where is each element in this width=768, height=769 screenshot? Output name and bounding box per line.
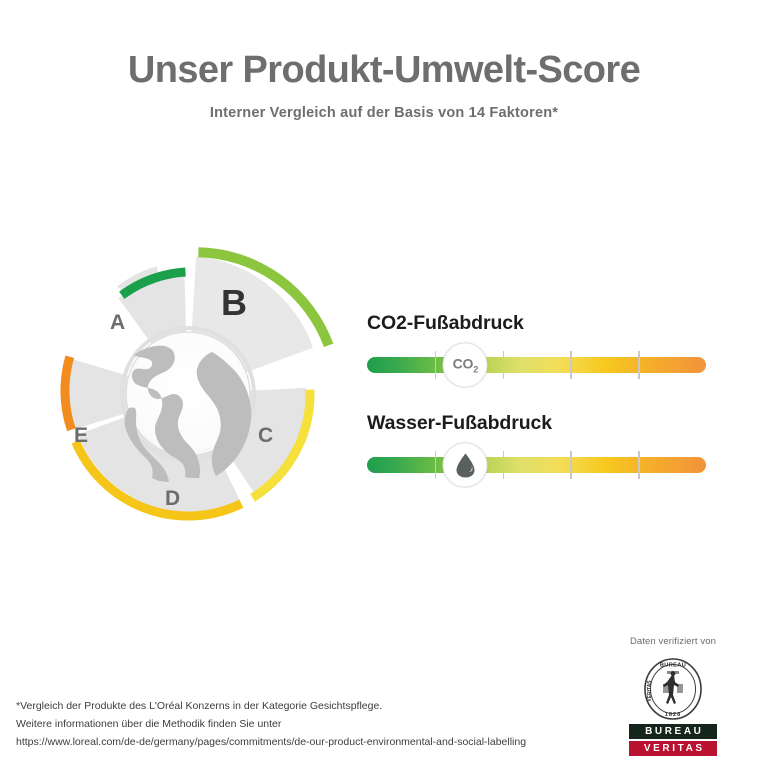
page-title: Unser Produkt-Umwelt-Score [0,49,768,92]
footnote: *Vergleich der Produkte des L'Oréal Konz… [16,697,616,751]
water-marker[interactable] [443,443,488,488]
co2-footprint-block: CO2-Fußabdruck CO2 [367,312,706,373]
co2-footprint-title: CO2-Fußabdruck [367,312,706,335]
bureau-wordmark: BUREAU [629,724,717,739]
water-footprint-block: Wasser-Fußabdruck [367,412,706,473]
co2-icon: CO2 [453,356,478,375]
water-tick-3 [570,451,572,479]
co2-tick-3 [570,351,572,379]
footnote-line-3[interactable]: https://www.loreal.com/de-de/germany/pag… [16,733,616,751]
bureau-veritas-logo: BUREAU 1828 VERITAS BUREAU VERITAS [603,657,743,756]
bureau-veritas-emblem-icon: BUREAU 1828 VERITAS [642,657,704,721]
svg-text:1828: 1828 [665,712,681,718]
water-footprint-title: Wasser-Fußabdruck [367,412,706,435]
score-wheel: A B C D E [38,232,338,542]
verification-block: Daten verifiziert von BUREAU 1828 VERITA… [603,636,743,756]
score-wheel-graphic [38,232,338,542]
water-tick-1 [435,451,437,479]
co2-tick-1 [435,351,437,379]
co2-footprint-scale[interactable]: CO2 [367,357,706,373]
verification-caption: Daten verifiziert von [603,636,743,647]
footnote-line-2: Weitere informationen über die Methodik … [16,715,616,733]
page-subtitle: Interner Vergleich auf der Basis von 14 … [0,105,768,121]
svg-text:BUREAU: BUREAU [660,663,686,669]
co2-tick-4 [638,351,640,379]
co2-gradient-track [367,357,706,373]
co2-marker[interactable]: CO2 [443,343,488,388]
veritas-wordmark: VERITAS [629,741,717,756]
water-drop-icon [454,452,476,478]
svg-text:VERITAS: VERITAS [647,680,653,702]
footnote-line-1: *Vergleich der Produkte des L'Oréal Konz… [16,697,616,715]
water-footprint-scale[interactable] [367,457,706,473]
co2-tick-2 [503,351,505,379]
water-gradient-track [367,457,706,473]
infographic-root: Unser Produkt-Umwelt-Score Interner Verg… [0,0,768,769]
water-tick-4 [638,451,640,479]
water-tick-2 [503,451,505,479]
